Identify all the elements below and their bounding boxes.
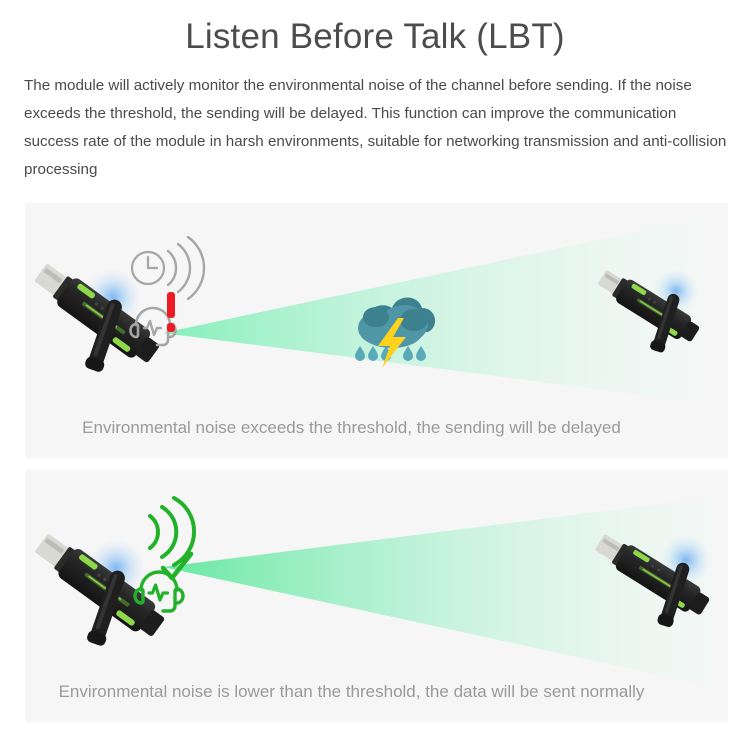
panel-caption-delayed: Environmental noise exceeds the threshol…: [0, 418, 703, 438]
panel-caption-normal: Environmental noise is lower than the th…: [0, 682, 703, 702]
intro-paragraph: The module will actively monitor the env…: [24, 72, 730, 184]
lbt-infographic: Listen Before Talk (LBT) The module will…: [0, 0, 750, 750]
page-title: Listen Before Talk (LBT): [0, 16, 750, 58]
